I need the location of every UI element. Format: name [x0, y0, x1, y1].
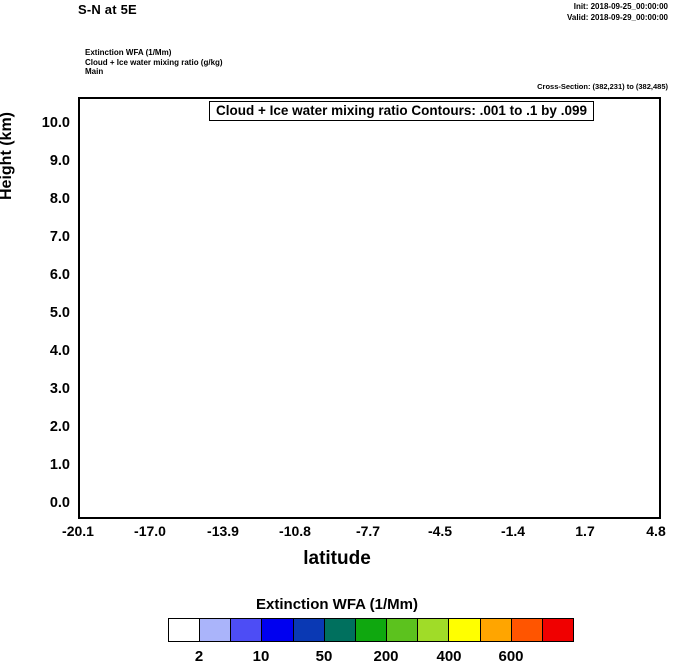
- field-line-extinction: Extinction WFA (1/Mm): [85, 48, 223, 58]
- x-tick-label: -4.5: [410, 523, 470, 539]
- x-tick-label: -13.9: [193, 523, 253, 539]
- colorbar-cell-3: [262, 619, 293, 641]
- colorbar-tick-label: 400: [419, 648, 479, 665]
- colorbar-tick-label: 10: [231, 648, 291, 665]
- y-tick-label: 5.0: [14, 305, 70, 321]
- colorbar-tick-label: 50: [294, 648, 354, 665]
- colorbar-tick-label: 600: [481, 648, 541, 665]
- init-time: Init: 2018-09-25_00:00:00: [567, 1, 668, 12]
- valid-time: Valid: 2018-09-29_00:00:00: [567, 12, 668, 23]
- y-tick-label: 3.0: [14, 381, 70, 397]
- page-title: S-N at 5E: [78, 2, 137, 17]
- x-tick-label: -7.7: [338, 523, 398, 539]
- colorbar-cell-10: [481, 619, 512, 641]
- run-time-block: Init: 2018-09-25_00:00:00 Valid: 2018-09…: [567, 1, 668, 23]
- colorbar-cell-2: [231, 619, 262, 641]
- colorbar-cell-0: [169, 619, 200, 641]
- y-tick-label: 4.0: [14, 343, 70, 359]
- colorbar-cell-5: [325, 619, 356, 641]
- y-tick-label: 6.0: [14, 267, 70, 283]
- y-tick-label: 0.0: [14, 495, 70, 511]
- x-tick-label: -1.4: [483, 523, 543, 539]
- colorbar[interactable]: [168, 618, 574, 642]
- x-tick-label: -17.0: [120, 523, 180, 539]
- y-tick-label: 2.0: [14, 419, 70, 435]
- y-tick-label: 9.0: [14, 153, 70, 169]
- colorbar-cell-8: [418, 619, 449, 641]
- y-tick-label: 10.0: [14, 115, 70, 131]
- y-tick-label: 1.0: [14, 457, 70, 473]
- colorbar-cell-12: [543, 619, 573, 641]
- x-tick-label: 1.7: [555, 523, 615, 539]
- field-description: Extinction WFA (1/Mm) Cloud + Ice water …: [85, 48, 223, 77]
- contour-title: Cloud + Ice water mixing ratio Contours:…: [209, 101, 594, 121]
- colorbar-cell-1: [200, 619, 231, 641]
- x-axis-label: latitude: [0, 548, 674, 570]
- cross-section-plot[interactable]: .001 .001: [78, 97, 661, 519]
- y-tick-label: 7.0: [14, 229, 70, 245]
- cross-section-coords: Cross-Section: (382,231) to (382,485): [537, 82, 668, 91]
- colorbar-cell-7: [387, 619, 418, 641]
- plot-frame: [78, 97, 661, 519]
- colorbar-cell-6: [356, 619, 387, 641]
- x-tick-label: 4.8: [626, 523, 674, 539]
- colorbar-title: Extinction WFA (1/Mm): [0, 596, 674, 613]
- colorbar-cell-11: [512, 619, 543, 641]
- x-tick-label: -20.1: [48, 523, 108, 539]
- colorbar-tick-label: 200: [356, 648, 416, 665]
- field-line-mixing-ratio: Cloud + Ice water mixing ratio (g/kg): [85, 58, 223, 68]
- field-line-domain: Main: [85, 67, 223, 77]
- x-tick-label: -10.8: [265, 523, 325, 539]
- colorbar-cell-4: [294, 619, 325, 641]
- colorbar-cell-9: [449, 619, 480, 641]
- colorbar-tick-label: 2: [169, 648, 229, 665]
- y-tick-label: 8.0: [14, 191, 70, 207]
